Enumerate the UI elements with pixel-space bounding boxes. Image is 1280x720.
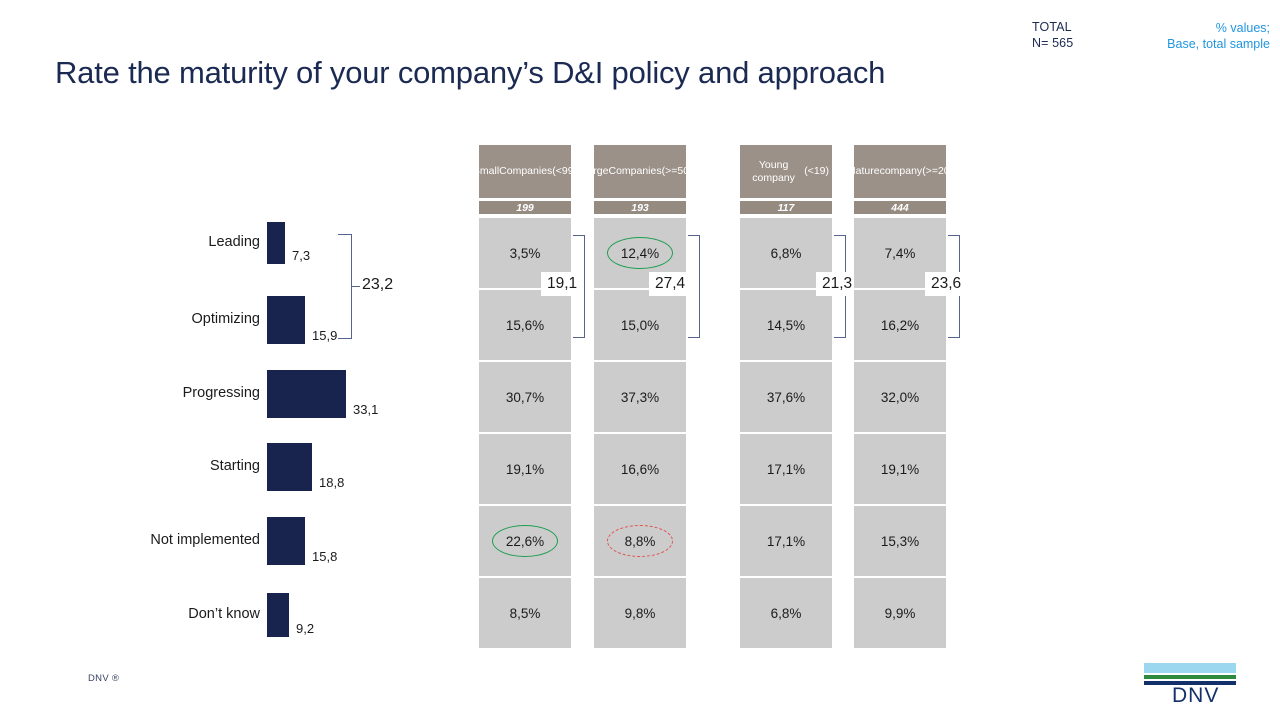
data-cell: 16,6%	[594, 434, 686, 504]
logo-wordmark: DNV	[1172, 685, 1219, 707]
data-cell-value: 14,5%	[767, 318, 805, 333]
data-cell: 6,8%	[740, 578, 832, 648]
bar-label: Not implemented	[40, 532, 260, 548]
bar-value: 33,1	[353, 402, 378, 417]
data-cell-value: 15,3%	[881, 534, 919, 549]
bar-value: 9,2	[296, 621, 314, 636]
total-n-value: N= 565	[1032, 36, 1073, 50]
data-cell: 19,1%	[479, 434, 571, 504]
data-cell: 37,6%	[740, 362, 832, 432]
column-base-n: 193	[594, 201, 686, 214]
leading-optimizing-total: 23,2	[362, 276, 393, 294]
data-cell-value: 9,9%	[885, 606, 916, 621]
data-cell-value: 15,6%	[506, 318, 544, 333]
data-cell-value: 17,1%	[767, 534, 805, 549]
bar-label: Optimizing	[40, 311, 260, 327]
total-bar-chart: Leading7,3Optimizing15,9Progressing33,1S…	[0, 0, 470, 720]
bar-rect	[267, 443, 312, 491]
data-cell-value: 30,7%	[506, 390, 544, 405]
column-bracket-total: 27,4	[649, 272, 691, 296]
data-cell-value: 19,1%	[881, 462, 919, 477]
data-cell: 17,1%	[740, 506, 832, 576]
bar-value: 18,8	[319, 475, 344, 490]
data-cell-value: 17,1%	[767, 462, 805, 477]
column-header: Young company(<19)	[740, 145, 832, 198]
footer-copyright: DNV ®	[88, 673, 119, 684]
data-cell-value: 9,8%	[625, 606, 656, 621]
column-header: Maturecompany(>=20)	[854, 145, 946, 198]
data-cell-value: 6,8%	[771, 246, 802, 261]
data-cell-value: 22,6%	[506, 534, 544, 549]
data-cell-value: 7,4%	[885, 246, 916, 261]
bar-rect	[267, 296, 305, 344]
data-cell: 9,8%	[594, 578, 686, 648]
total-label: TOTAL	[1032, 20, 1072, 34]
column-base-n: 444	[854, 201, 946, 214]
bar-label: Progressing	[40, 385, 260, 401]
data-cell-value: 3,5%	[510, 246, 541, 261]
data-cell: 32,0%	[854, 362, 946, 432]
bar-label: Leading	[40, 234, 260, 250]
column-header: LargeCompanies(>=500)	[594, 145, 686, 198]
column-base-n: 199	[479, 201, 571, 214]
data-cell: 8,5%	[479, 578, 571, 648]
data-cell-value: 16,2%	[881, 318, 919, 333]
data-cell: 15,3%	[854, 506, 946, 576]
base-note-line-1: % values;	[1216, 21, 1270, 35]
column-header: SmallCompanies(<99)	[479, 145, 571, 198]
bar-rect	[267, 593, 289, 637]
column-bracket-total: 21,3	[816, 272, 858, 296]
column-base-n: 117	[740, 201, 832, 214]
data-cell: 30,7%	[479, 362, 571, 432]
data-cell: 14,5%	[740, 290, 832, 360]
data-cell-value: 8,8%	[625, 534, 656, 549]
breakdown-column: Maturecompany(>=20)4447,4%16,2%32,0%19,1…	[854, 145, 946, 648]
data-cell: 15,6%	[479, 290, 571, 360]
bar-label: Don’t know	[40, 606, 260, 622]
base-note: % values;Base, total sample	[1080, 20, 1270, 52]
data-cell: 15,0%	[594, 290, 686, 360]
column-bracket-total: 19,1	[541, 272, 583, 296]
leading-optimizing-bracket-tick	[352, 286, 360, 287]
data-cell-value: 12,4%	[621, 246, 659, 261]
base-note-line-2: Base, total sample	[1167, 37, 1270, 51]
data-cell-value: 15,0%	[621, 318, 659, 333]
bar-rect	[267, 222, 285, 264]
bar-label: Starting	[40, 458, 260, 474]
bar-value: 15,8	[312, 549, 337, 564]
bar-rect	[267, 517, 305, 565]
breakdown-column: LargeCompanies(>=500)19312,4%15,0%37,3%1…	[594, 145, 686, 648]
bar-value: 7,3	[292, 248, 310, 263]
data-cell-value: 8,5%	[510, 606, 541, 621]
breakdown-column: SmallCompanies(<99)1993,5%15,6%30,7%19,1…	[479, 145, 571, 648]
data-cell-value: 16,6%	[621, 462, 659, 477]
data-cell-value: 32,0%	[881, 390, 919, 405]
total-sample-note: TOTALN= 565	[1032, 19, 1073, 51]
logo-bar-light-blue	[1144, 663, 1236, 673]
breakdown-column: Young company(<19)1176,8%14,5%37,6%17,1%…	[740, 145, 832, 648]
column-bracket-total: 23,6	[925, 272, 967, 296]
bar-value: 15,9	[312, 328, 337, 343]
data-cell: 16,2%	[854, 290, 946, 360]
data-cell: 19,1%	[854, 434, 946, 504]
data-cell: 8,8%	[594, 506, 686, 576]
bar-rect	[267, 370, 346, 418]
data-cell-value: 37,6%	[767, 390, 805, 405]
logo-bar-green	[1144, 675, 1236, 679]
dnv-logo: DNV	[1144, 663, 1236, 707]
data-cell-value: 19,1%	[506, 462, 544, 477]
data-cell-value: 6,8%	[771, 606, 802, 621]
data-cell: 37,3%	[594, 362, 686, 432]
data-cell: 17,1%	[740, 434, 832, 504]
leading-optimizing-bracket	[338, 234, 352, 339]
data-cell: 9,9%	[854, 578, 946, 648]
data-cell-value: 37,3%	[621, 390, 659, 405]
data-cell: 22,6%	[479, 506, 571, 576]
